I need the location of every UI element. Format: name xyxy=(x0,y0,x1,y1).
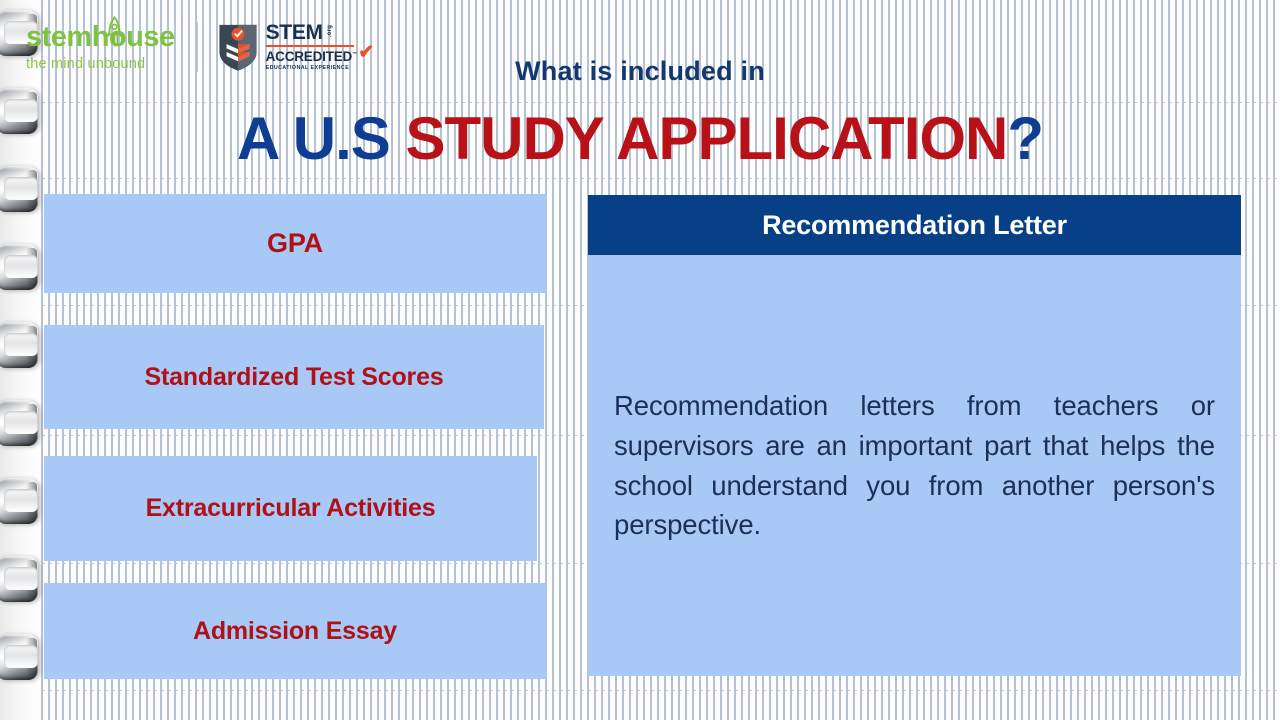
detail-panel-paragraph: Recommendation letters from teachers or … xyxy=(614,386,1215,544)
slide-canvas: stemhouse the mind unbound xyxy=(0,0,1280,720)
headline-question-mark: ? xyxy=(1007,105,1043,172)
spiral-ring-icon xyxy=(0,244,38,290)
rocket-icon xyxy=(105,16,124,50)
list-item-label: Admission Essay xyxy=(193,617,397,646)
spiral-ring-icon xyxy=(0,556,38,602)
list-item[interactable]: Standardized Test Scores xyxy=(44,325,544,429)
detail-panel-body: Recommendation letters from teachers or … xyxy=(588,255,1241,676)
detail-panel-header: Recommendation Letter xyxy=(588,195,1241,255)
list-item[interactable]: Extracurricular Activities xyxy=(44,456,537,561)
list-item[interactable]: GPA xyxy=(44,194,546,293)
slide-subtitle: What is included in xyxy=(0,56,1280,87)
stem-wordmark: STEM .org xyxy=(266,22,323,43)
list-item-label: GPA xyxy=(267,228,323,259)
spiral-ring-icon xyxy=(0,400,38,446)
stem-divider-rule xyxy=(266,45,354,47)
slide-headline: A U.S STUDY APPLICATION? xyxy=(0,104,1280,173)
headline-part-red: STUDY APPLICATION xyxy=(405,105,1007,172)
list-item[interactable]: Admission Essay xyxy=(44,583,546,679)
spiral-ring-icon xyxy=(0,322,38,368)
stem-org-suffix: .org xyxy=(327,25,333,37)
list-item-label: Extracurricular Activities xyxy=(146,494,436,523)
grid-rule xyxy=(36,690,1280,691)
headline-part-blue: A U.S xyxy=(237,105,390,172)
spiral-ring-icon xyxy=(0,478,38,524)
detail-panel: Recommendation Letter Recommendation let… xyxy=(588,195,1241,676)
grid-rule xyxy=(36,102,1280,103)
list-item-label: Standardized Test Scores xyxy=(145,363,444,392)
spiral-ring-icon xyxy=(0,634,38,680)
grid-rule xyxy=(36,178,1280,179)
detail-panel-title: Recommendation Letter xyxy=(762,210,1067,241)
stemhouse-wordmark: stemhouse xyxy=(26,23,175,52)
